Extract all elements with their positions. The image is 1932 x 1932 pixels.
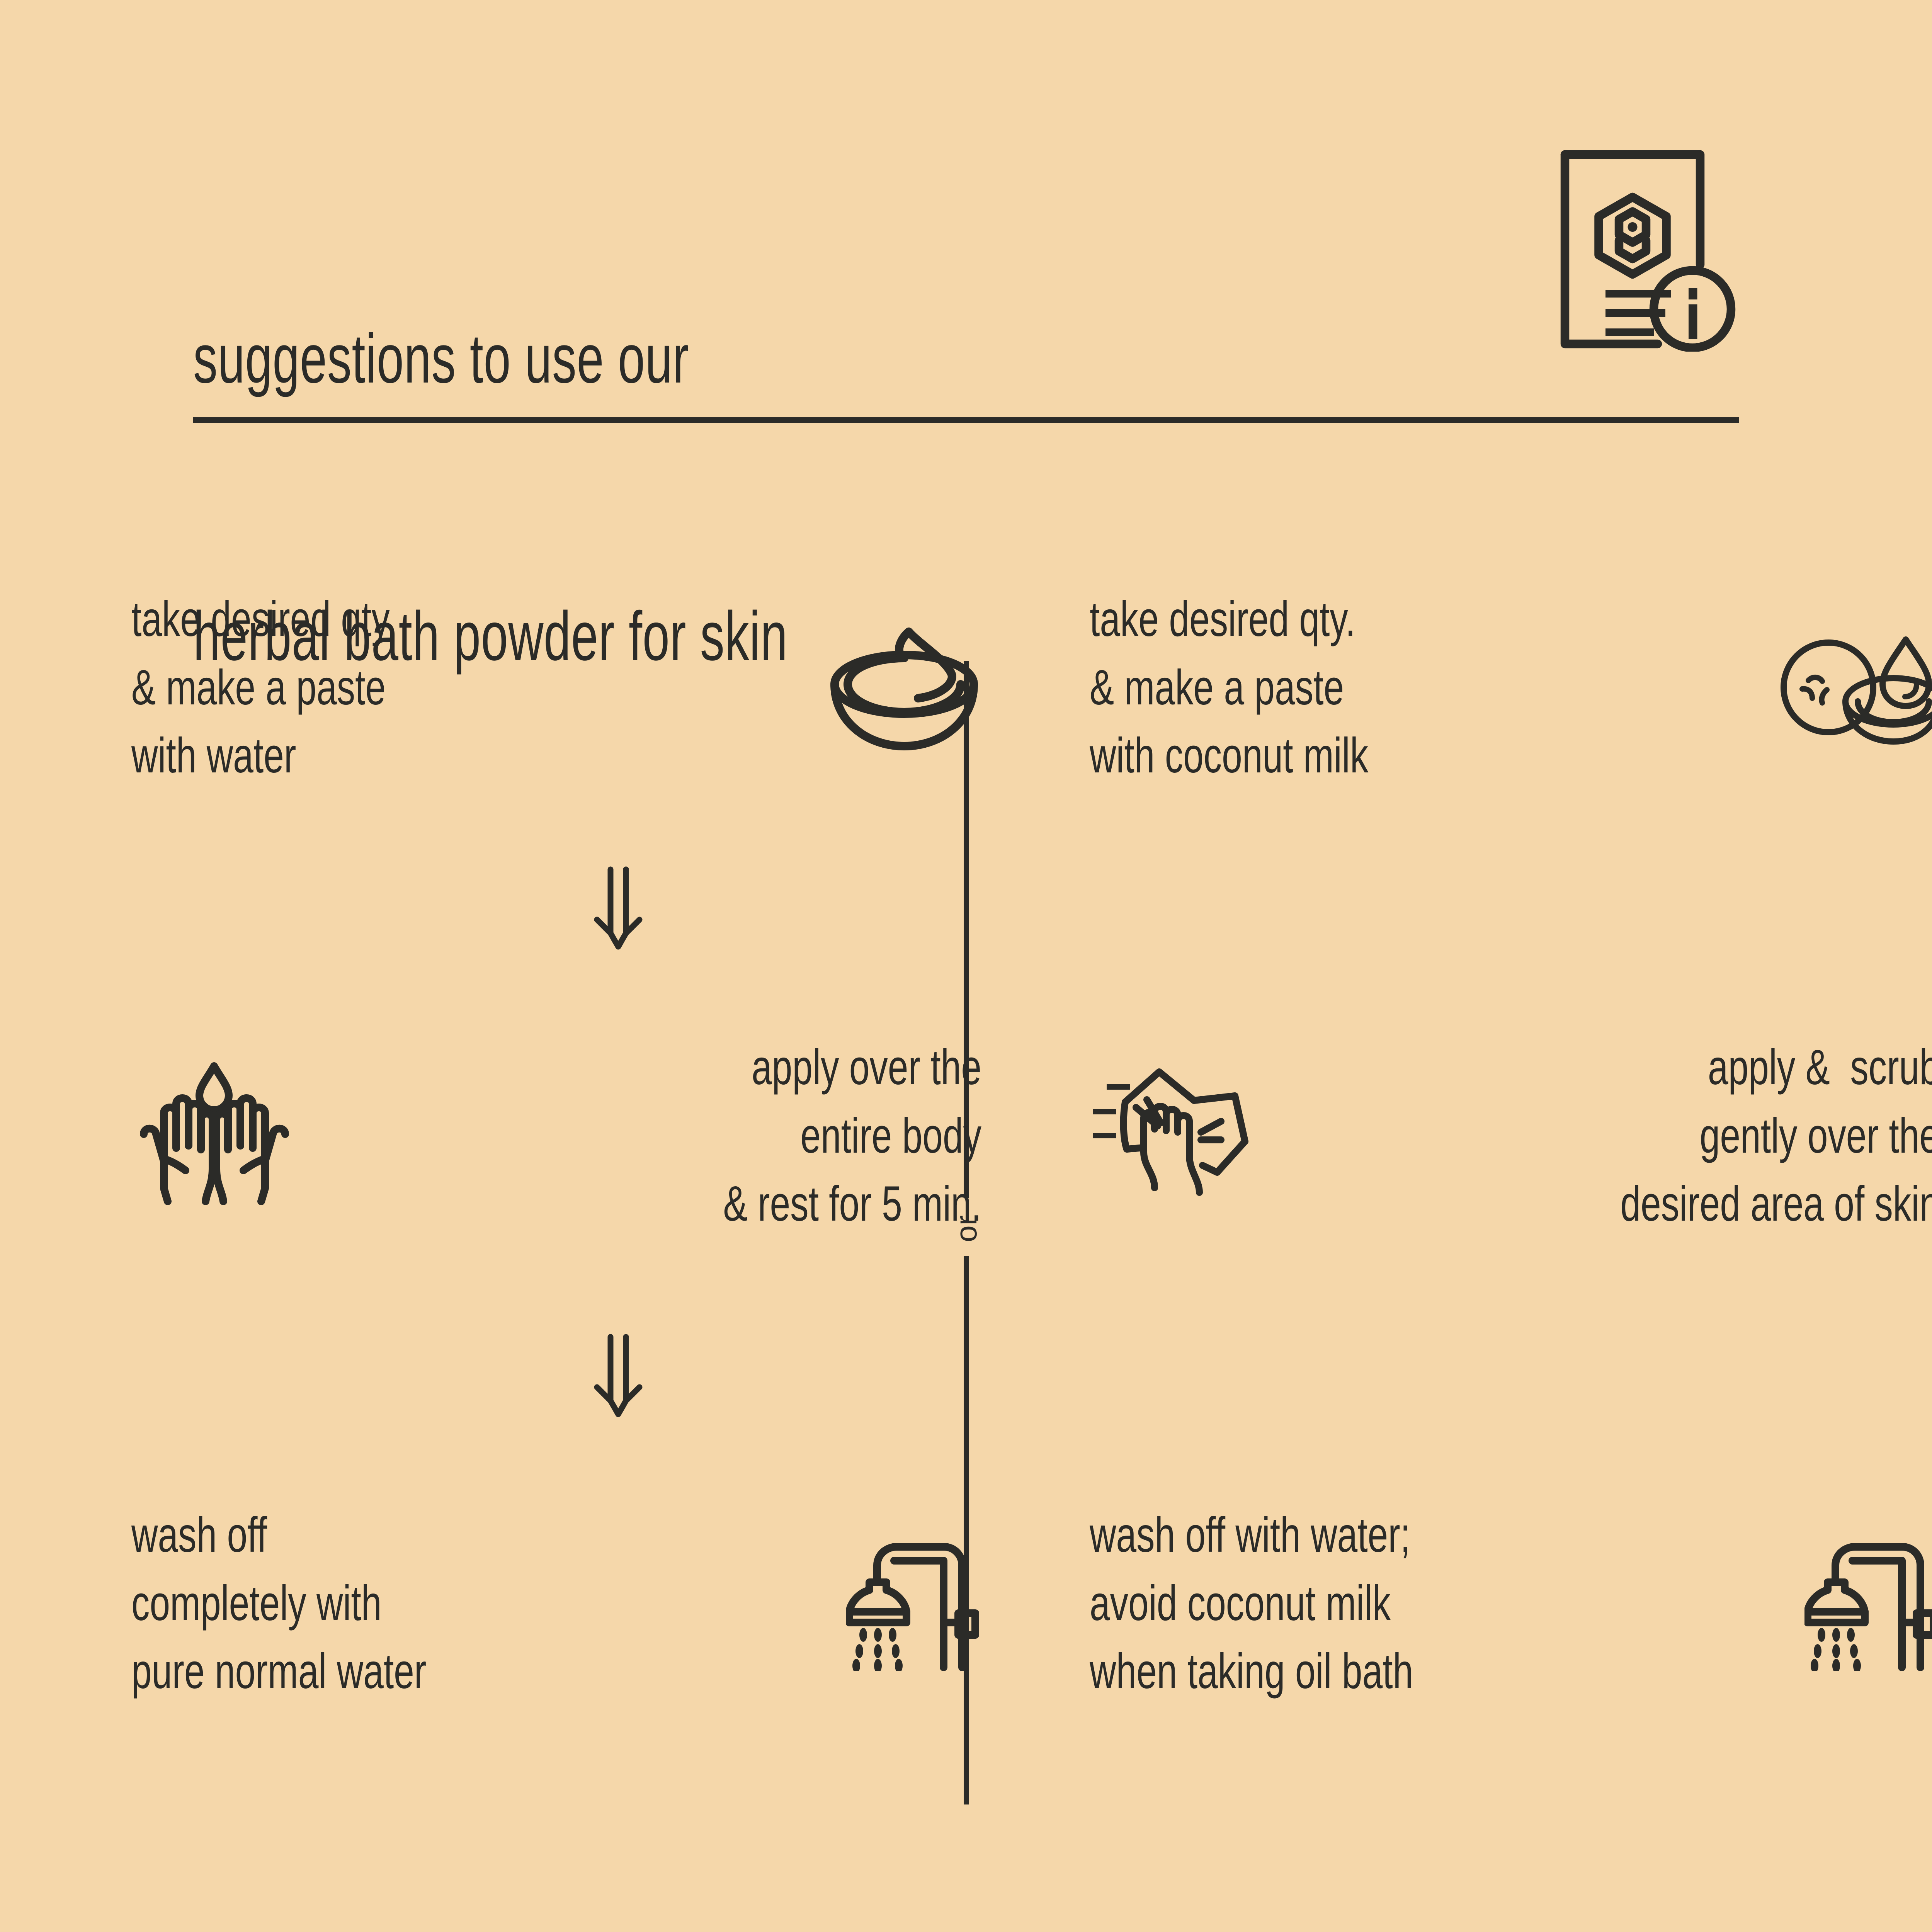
step-take-paste-water: take desired qty. & make a paste with wa… [131,591,981,784]
column-coconut-milk-method: take desired qty. & make a paste with co… [1090,560,1932,1874]
infographic-page: suggestions to use our herbal bath powde… [0,0,1932,1932]
steps-grid: or take desired qty. & make a paste with… [0,560,1932,1874]
header: suggestions to use our herbal bath powde… [193,128,1739,429]
document-info-icon [1557,147,1739,352]
paste-bowl-icon [827,624,981,752]
coconut-milk-droplet-icon [1777,624,1932,752]
open-hands-droplet-icon [131,1053,298,1219]
title-underline [193,417,1739,423]
step-apply-entire-body: apply over the entire body & rest for 5 … [131,1036,981,1236]
down-arrow-icon [589,1333,647,1426]
step-wash-off-avoid-coconut: wash off with water; avoid coconut milk … [1090,1507,1932,1700]
step-text: wash off with water; avoid coconut milk … [1090,1501,1602,1706]
shower-icon [846,1536,981,1671]
step-text: take desired qty. & make a paste with wa… [131,585,629,790]
shower-icon [1804,1536,1932,1671]
step-wash-off-water: wash off completely with pure normal wat… [131,1507,981,1700]
step-text: apply & scrub gently over the desired ar… [1451,1034,1932,1238]
step-text: wash off completely with pure normal wat… [131,1501,643,1706]
page-title-line-1: suggestions to use our [193,313,1059,405]
column-water-method: take desired qty. & make a paste with wa… [131,560,981,1874]
down-arrow-icon [589,866,647,958]
hand-scrub-icon [1090,1055,1256,1217]
step-text: take desired qty. & make a paste with co… [1090,585,1582,790]
step-apply-scrub-gently: apply & scrub gently over the desired ar… [1090,1036,1932,1236]
step-take-paste-coconut-milk: take desired qty. & make a paste with co… [1090,591,1932,784]
step-text: apply over the entire body & rest for 5 … [493,1034,981,1238]
